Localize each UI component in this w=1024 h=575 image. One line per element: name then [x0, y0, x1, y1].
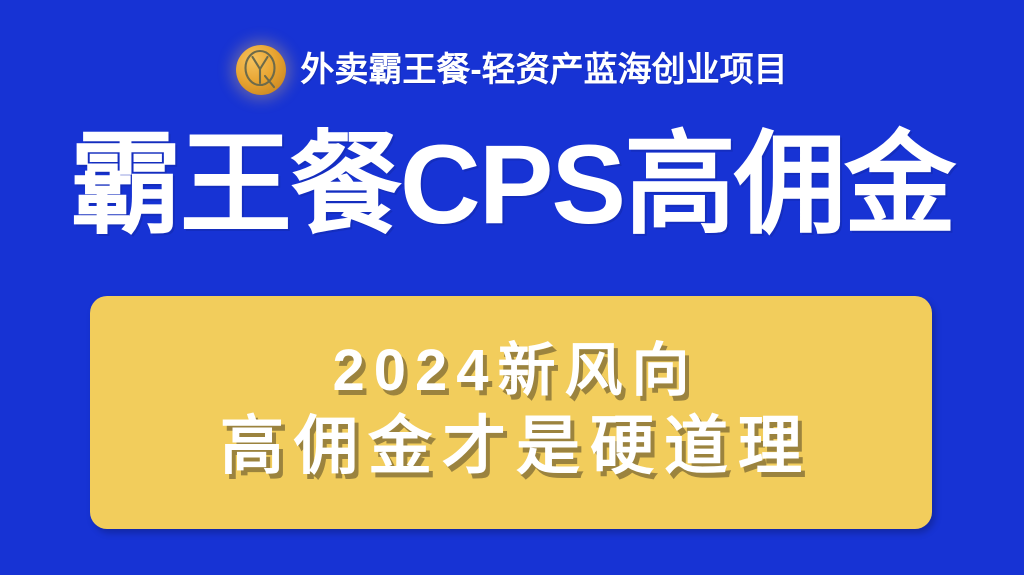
poster-subtitle: 外卖霸王餐-轻资产蓝海创业项目: [300, 53, 787, 87]
poster-main-title: 霸王餐CPS高佣金: [0, 122, 1024, 247]
poster-header: 外卖霸王餐-轻资产蓝海创业项目: [0, 34, 1024, 106]
promo-poster: 外卖霸王餐-轻资产蓝海创业项目 霸王餐CPS高佣金 2024新风向 高佣金才是硬…: [0, 0, 1024, 575]
yq-monogram-circle-logo-icon: [236, 45, 286, 95]
highlight-line-1: 2024新风向: [323, 340, 698, 401]
highlight-line-2: 高佣金才是硬道理: [210, 413, 812, 481]
highlight-panel: 2024新风向 高佣金才是硬道理: [90, 296, 932, 529]
